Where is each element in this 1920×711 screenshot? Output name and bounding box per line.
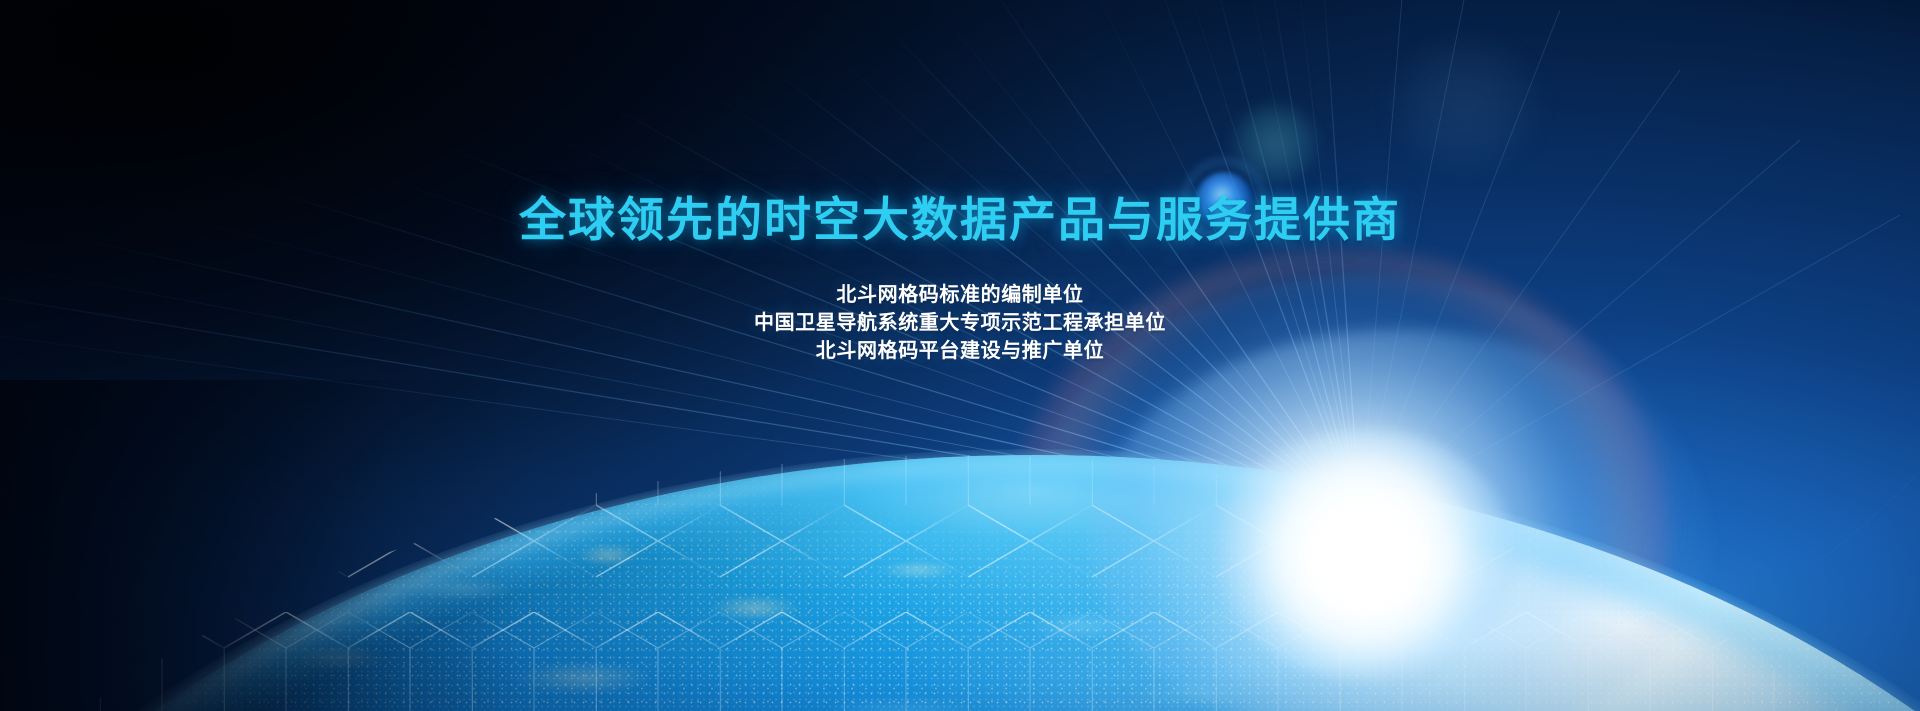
sun-core-glow	[1215, 430, 1515, 680]
earth-left-shadow-fade	[0, 380, 520, 711]
hero-subtitle-list: 北斗网格码标准的编制单位 中国卫星导航系统重大专项示范工程承担单位 北斗网格码平…	[0, 281, 1920, 365]
hero-banner: 全球领先的时空大数据产品与服务提供商 北斗网格码标准的编制单位 中国卫星导航系统…	[0, 0, 1920, 711]
page-title: 全球领先的时空大数据产品与服务提供商	[0, 196, 1920, 243]
hero-subtitle-line-2: 中国卫星导航系统重大专项示范工程承担单位	[0, 309, 1920, 337]
hero-subtitle-line-1: 北斗网格码标准的编制单位	[0, 281, 1920, 309]
hero-subtitle-line-3: 北斗网格码平台建设与推广单位	[0, 337, 1920, 365]
hero-text-block: 全球领先的时空大数据产品与服务提供商 北斗网格码标准的编制单位 中国卫星导航系统…	[0, 196, 1920, 365]
